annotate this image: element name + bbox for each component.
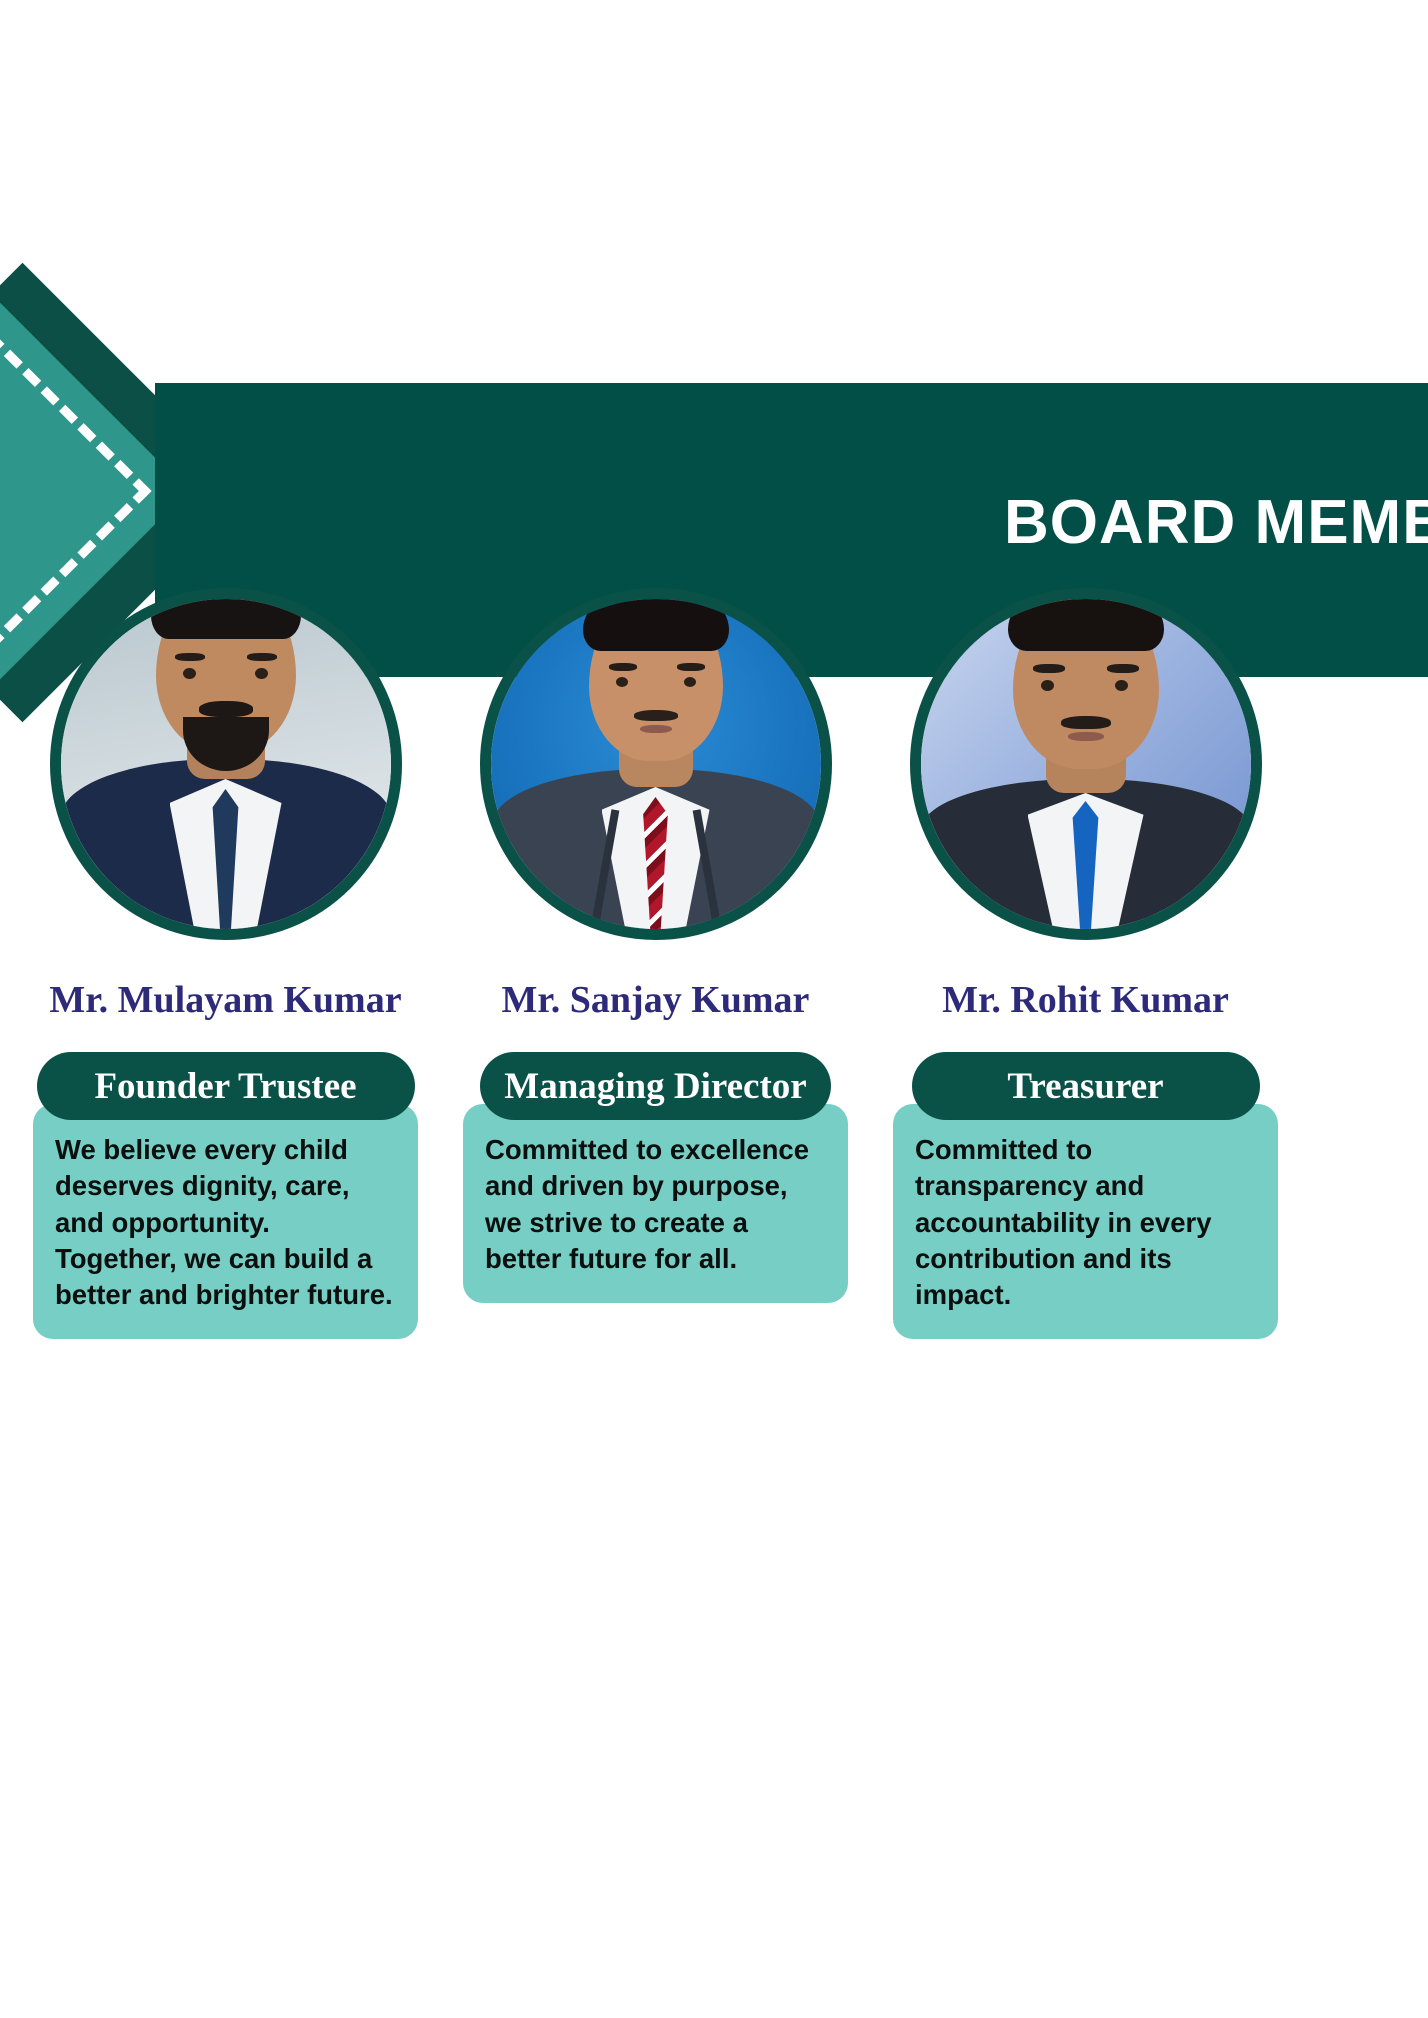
person-figure: [491, 599, 821, 929]
portrait-photo: [61, 599, 391, 929]
page-title: BOARD MEMBERS: [1004, 492, 1428, 554]
board-member-card: Mr. Mulayam Kumar Founder Trustee We bel…: [33, 588, 418, 1339]
member-role-badge: Founder Trustee: [37, 1052, 415, 1120]
board-member-card: Mr. Rohit Kumar Treasurer Committed to t…: [893, 588, 1278, 1339]
person-figure: [921, 599, 1251, 929]
portrait-photo: [491, 599, 821, 929]
avatar: [480, 588, 832, 940]
member-name: Mr. Sanjay Kumar: [463, 978, 848, 1022]
person-figure: [61, 599, 391, 929]
member-name: Mr. Mulayam Kumar: [33, 978, 418, 1022]
member-quote: We believe every child deserves dignity,…: [33, 1104, 418, 1339]
avatar: [50, 588, 402, 940]
portrait-photo: [921, 599, 1251, 929]
member-role-badge: Treasurer: [912, 1052, 1260, 1120]
board-member-card: Mr. Sanjay Kumar Managing Director Commi…: [463, 588, 848, 1303]
poster-canvas: BOARD MEMBERS: [0, 0, 1428, 2018]
board-members-row: Mr. Mulayam Kumar Founder Trustee We bel…: [33, 588, 1428, 1339]
member-role-badge: Managing Director: [480, 1052, 830, 1120]
avatar: [910, 588, 1262, 940]
member-name: Mr. Rohit Kumar: [893, 978, 1278, 1022]
member-quote: Committed to excellence and driven by pu…: [463, 1104, 848, 1303]
member-quote: Committed to transparency and accountabi…: [893, 1104, 1278, 1339]
